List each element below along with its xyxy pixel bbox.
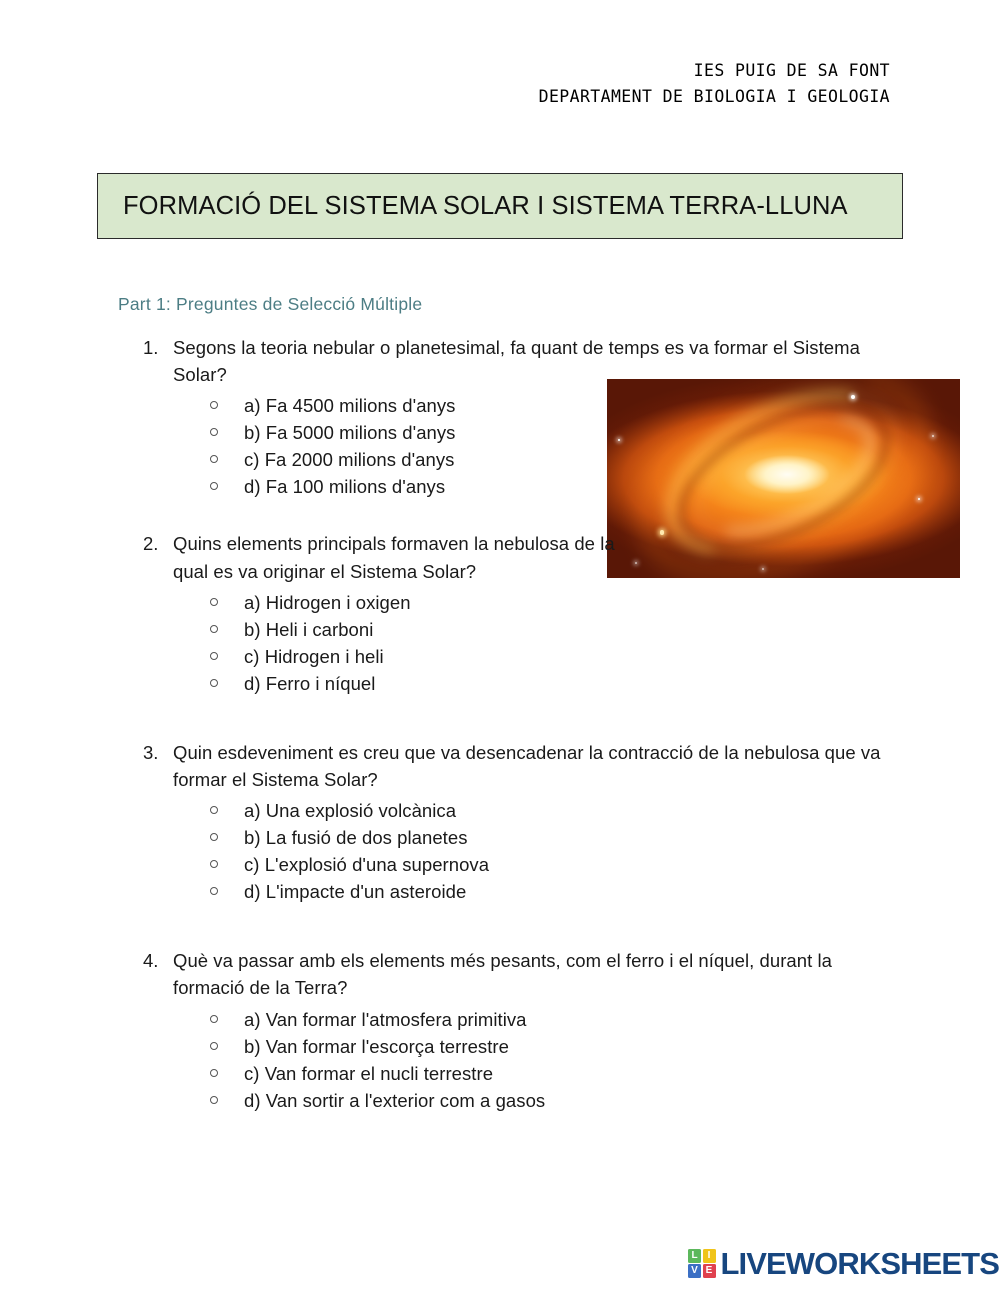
options-list: a) Fa 4500 milions d'anys b) Fa 5000 mil… (143, 392, 960, 500)
radio-circle-icon[interactable] (210, 428, 218, 436)
option-label: d) Ferro i níquel (244, 673, 375, 694)
liveworksheets-logo[interactable]: L I V E LIVEWORKSHEETS (688, 1248, 999, 1279)
logo-tile-v: V (688, 1264, 701, 1278)
radio-circle-icon[interactable] (210, 679, 218, 687)
radio-circle-icon[interactable] (210, 401, 218, 409)
radio-circle-icon[interactable] (210, 598, 218, 606)
option-label: b) La fusió de dos planetes (244, 827, 468, 848)
options-list: a) Hidrogen i oxigen b) Heli i carboni c… (143, 589, 960, 697)
option-item[interactable]: a) Fa 4500 milions d'anys (210, 392, 960, 419)
radio-circle-icon[interactable] (210, 1069, 218, 1077)
option-label: b) Van formar l'escorça terrestre (244, 1036, 509, 1057)
option-item[interactable]: c) Hidrogen i heli (210, 643, 960, 670)
radio-circle-icon[interactable] (210, 482, 218, 490)
option-item[interactable]: a) Van formar l'atmosfera primitiva (210, 1006, 960, 1033)
option-label: d) Fa 100 milions d'anys (244, 476, 445, 497)
option-item[interactable]: c) Fa 2000 milions d'anys (210, 446, 960, 473)
option-item[interactable]: a) Hidrogen i oxigen (210, 589, 960, 616)
radio-circle-icon[interactable] (210, 1042, 218, 1050)
page-title: FORMACIÓ DEL SISTEMA SOLAR I SISTEMA TER… (98, 192, 848, 221)
option-label: a) Fa 4500 milions d'anys (244, 395, 455, 416)
option-label: d) L'impacte d'un asteroide (244, 881, 466, 902)
option-item[interactable]: d) Van sortir a l'exterior com a gasos (210, 1087, 960, 1114)
radio-circle-icon[interactable] (210, 625, 218, 633)
question-item: 2. Quins elements principals formaven la… (0, 530, 1000, 696)
option-item[interactable]: b) Van formar l'escorça terrestre (210, 1033, 960, 1060)
question-text: Quins elements principals formaven la ne… (173, 530, 616, 584)
option-item[interactable]: a) Una explosió volcànica (210, 797, 960, 824)
worksheet-page: IES PUIG DE SA FONT DEPARTAMENT DE BIOLO… (0, 0, 1000, 1294)
question-number: 1. (143, 334, 173, 361)
logo-tiles: L I V E (688, 1249, 716, 1279)
question-item: 4. Què va passar amb els elements més pe… (0, 947, 1000, 1113)
option-label: b) Heli i carboni (244, 619, 373, 640)
option-label: c) Hidrogen i heli (244, 646, 384, 667)
option-label: a) Van formar l'atmosfera primitiva (244, 1009, 527, 1030)
question-text: Quin esdeveniment es creu que va desenca… (173, 739, 918, 793)
option-label: c) Fa 2000 milions d'anys (244, 449, 454, 470)
part-heading: Part 1: Preguntes de Selecció Múltiple (118, 294, 422, 315)
department-name: DEPARTAMENT DE BIOLOGIA I GEOLOGIA (539, 84, 890, 110)
radio-circle-icon[interactable] (210, 1096, 218, 1104)
question-number: 4. (143, 947, 173, 974)
option-item[interactable]: b) Heli i carboni (210, 616, 960, 643)
option-item[interactable]: d) Ferro i níquel (210, 670, 960, 697)
logo-wordmark: LIVEWORKSHEETS (721, 1248, 999, 1279)
question-text: Què va passar amb els elements més pesan… (173, 947, 863, 1001)
question-number: 3. (143, 739, 173, 766)
option-label: a) Una explosió volcànica (244, 800, 456, 821)
radio-circle-icon[interactable] (210, 887, 218, 895)
option-item[interactable]: b) Fa 5000 milions d'anys (210, 419, 960, 446)
school-header: IES PUIG DE SA FONT DEPARTAMENT DE BIOLO… (539, 58, 890, 109)
option-label: d) Van sortir a l'exterior com a gasos (244, 1090, 545, 1111)
logo-tile-e: E (703, 1264, 716, 1278)
option-item[interactable]: b) La fusió de dos planetes (210, 824, 960, 851)
logo-tile-i: I (703, 1249, 716, 1263)
logo-tile-l: L (688, 1249, 701, 1263)
radio-circle-icon[interactable] (210, 455, 218, 463)
school-name: IES PUIG DE SA FONT (539, 58, 890, 84)
option-label: c) L'explosió d'una supernova (244, 854, 489, 875)
option-item[interactable]: c) L'explosió d'una supernova (210, 851, 960, 878)
options-list: a) Van formar l'atmosfera primitiva b) V… (143, 1006, 960, 1114)
question-item: 3. Quin esdeveniment es creu que va dese… (0, 739, 1000, 905)
option-item[interactable]: c) Van formar el nucli terrestre (210, 1060, 960, 1087)
question-item: 1. Segons la teoria nebular o planetesim… (0, 334, 1000, 500)
question-text: Segons la teoria nebular o planetesimal,… (173, 334, 903, 388)
option-label: b) Fa 5000 milions d'anys (244, 422, 455, 443)
radio-circle-icon[interactable] (210, 1015, 218, 1023)
option-item[interactable]: d) Fa 100 milions d'anys (210, 473, 960, 500)
option-item[interactable]: d) L'impacte d'un asteroide (210, 878, 960, 905)
option-label: c) Van formar el nucli terrestre (244, 1063, 493, 1084)
options-list: a) Una explosió volcànica b) La fusió de… (143, 797, 960, 905)
questions-list: 1. Segons la teoria nebular o planetesim… (0, 334, 1000, 1114)
radio-circle-icon[interactable] (210, 652, 218, 660)
radio-circle-icon[interactable] (210, 860, 218, 868)
option-label: a) Hidrogen i oxigen (244, 592, 411, 613)
question-number: 2. (143, 530, 173, 557)
radio-circle-icon[interactable] (210, 833, 218, 841)
radio-circle-icon[interactable] (210, 806, 218, 814)
title-banner: FORMACIÓ DEL SISTEMA SOLAR I SISTEMA TER… (97, 173, 903, 239)
